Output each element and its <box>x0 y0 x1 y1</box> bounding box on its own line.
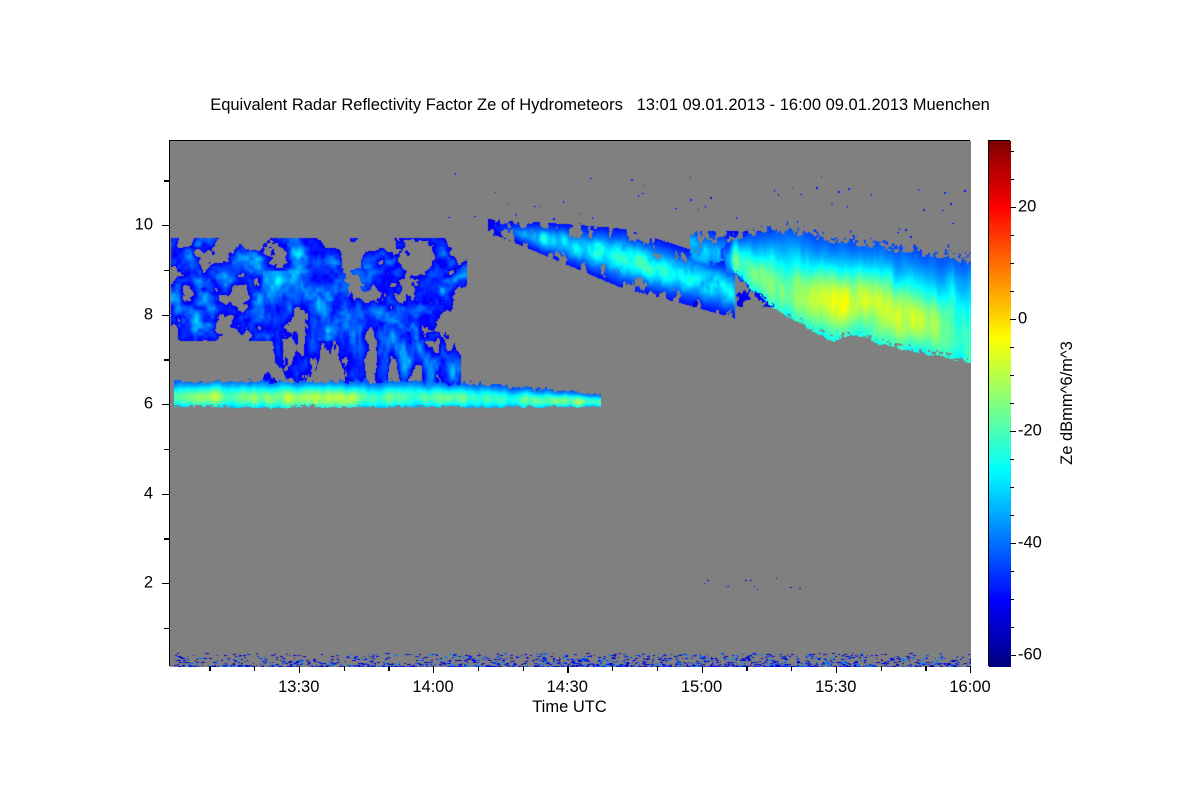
colorbar-tick-minor <box>1010 627 1014 628</box>
colorbar-tick-minor <box>1010 263 1014 264</box>
colorbar-tick-minor <box>1010 599 1014 600</box>
colorbar-tick-minor <box>1010 571 1014 572</box>
colorbar-tick-minor <box>1010 291 1014 292</box>
colorbar-tick-minor <box>1010 403 1014 404</box>
colorbar-gradient <box>989 141 1011 667</box>
y-tick-major <box>162 404 169 405</box>
x-tick-label: 16:00 <box>925 678 1015 697</box>
colorbar-tick-label: -20 <box>1018 421 1042 440</box>
y-tick-label: 8 <box>113 305 153 324</box>
x-tick-major <box>970 666 971 673</box>
colorbar-tick-minor <box>1010 375 1014 376</box>
colorbar-tick-minor <box>1010 347 1014 348</box>
x-tick-major <box>299 666 300 673</box>
y-tick-minor <box>164 359 169 360</box>
colorbar-tick-minor <box>1010 179 1014 180</box>
x-tick-minor <box>344 666 345 671</box>
radar-reflectivity-heatmap <box>170 141 971 667</box>
x-tick-major <box>702 666 703 673</box>
x-tick-minor <box>254 666 255 671</box>
y-tick-major <box>162 225 169 226</box>
colorbar-tick-minor <box>1010 459 1014 460</box>
colorbar-tick-label: 0 <box>1018 310 1027 329</box>
colorbar-tick <box>1010 207 1016 208</box>
y-tick-minor <box>164 628 169 629</box>
x-tick-minor <box>478 666 479 671</box>
colorbar-tick <box>1010 543 1016 544</box>
y-tick-major <box>162 494 169 495</box>
page-title: Equivalent Radar Reflectivity Factor Ze … <box>0 96 1200 115</box>
x-tick-minor <box>209 666 210 671</box>
colorbar-tick-minor <box>1010 515 1014 516</box>
x-tick-minor <box>388 666 389 671</box>
colorbar-tick-minor <box>1010 487 1014 488</box>
y-tick-minor <box>164 538 169 539</box>
y-tick-minor <box>164 449 169 450</box>
x-tick-minor <box>612 666 613 671</box>
y-tick-major <box>162 315 169 316</box>
y-tick-minor <box>164 180 169 181</box>
x-tick-minor <box>881 666 882 671</box>
colorbar-tick-label: -60 <box>1018 645 1042 664</box>
x-tick-label: 15:00 <box>657 678 747 697</box>
x-tick-major <box>836 666 837 673</box>
colorbar-tick <box>1010 655 1016 656</box>
colorbar <box>988 140 1010 666</box>
colorbar-group: -60-40-20020 <box>988 140 1010 666</box>
colorbar-tick-label: -40 <box>1018 533 1042 552</box>
x-tick-minor <box>925 666 926 671</box>
colorbar-title: Ze dBmm^6/m^3 <box>1058 341 1077 465</box>
x-axis-title: Time UTC <box>169 698 970 717</box>
x-tick-major <box>433 666 434 673</box>
x-tick-label: 14:30 <box>522 678 612 697</box>
x-tick-major <box>567 666 568 673</box>
y-tick-minor <box>164 270 169 271</box>
figure-root: Equivalent Radar Reflectivity Factor Ze … <box>0 0 1200 800</box>
colorbar-tick-minor <box>1010 235 1014 236</box>
x-tick-minor <box>523 666 524 671</box>
colorbar-tick <box>1010 319 1016 320</box>
x-tick-minor <box>657 666 658 671</box>
colorbar-tick-label: 20 <box>1018 198 1036 217</box>
y-tick-label: 2 <box>113 574 153 593</box>
x-tick-minor <box>791 666 792 671</box>
y-tick-major <box>162 583 169 584</box>
y-tick-label: 6 <box>113 395 153 414</box>
plot-area <box>169 140 970 666</box>
x-tick-minor <box>746 666 747 671</box>
x-tick-label: 13:30 <box>254 678 344 697</box>
x-tick-label: 14:00 <box>388 678 478 697</box>
colorbar-tick <box>1010 431 1016 432</box>
y-tick-label: 4 <box>113 484 153 503</box>
x-tick-label: 15:30 <box>791 678 881 697</box>
y-tick-label: 10 <box>113 216 153 235</box>
colorbar-tick-minor <box>1010 151 1014 152</box>
